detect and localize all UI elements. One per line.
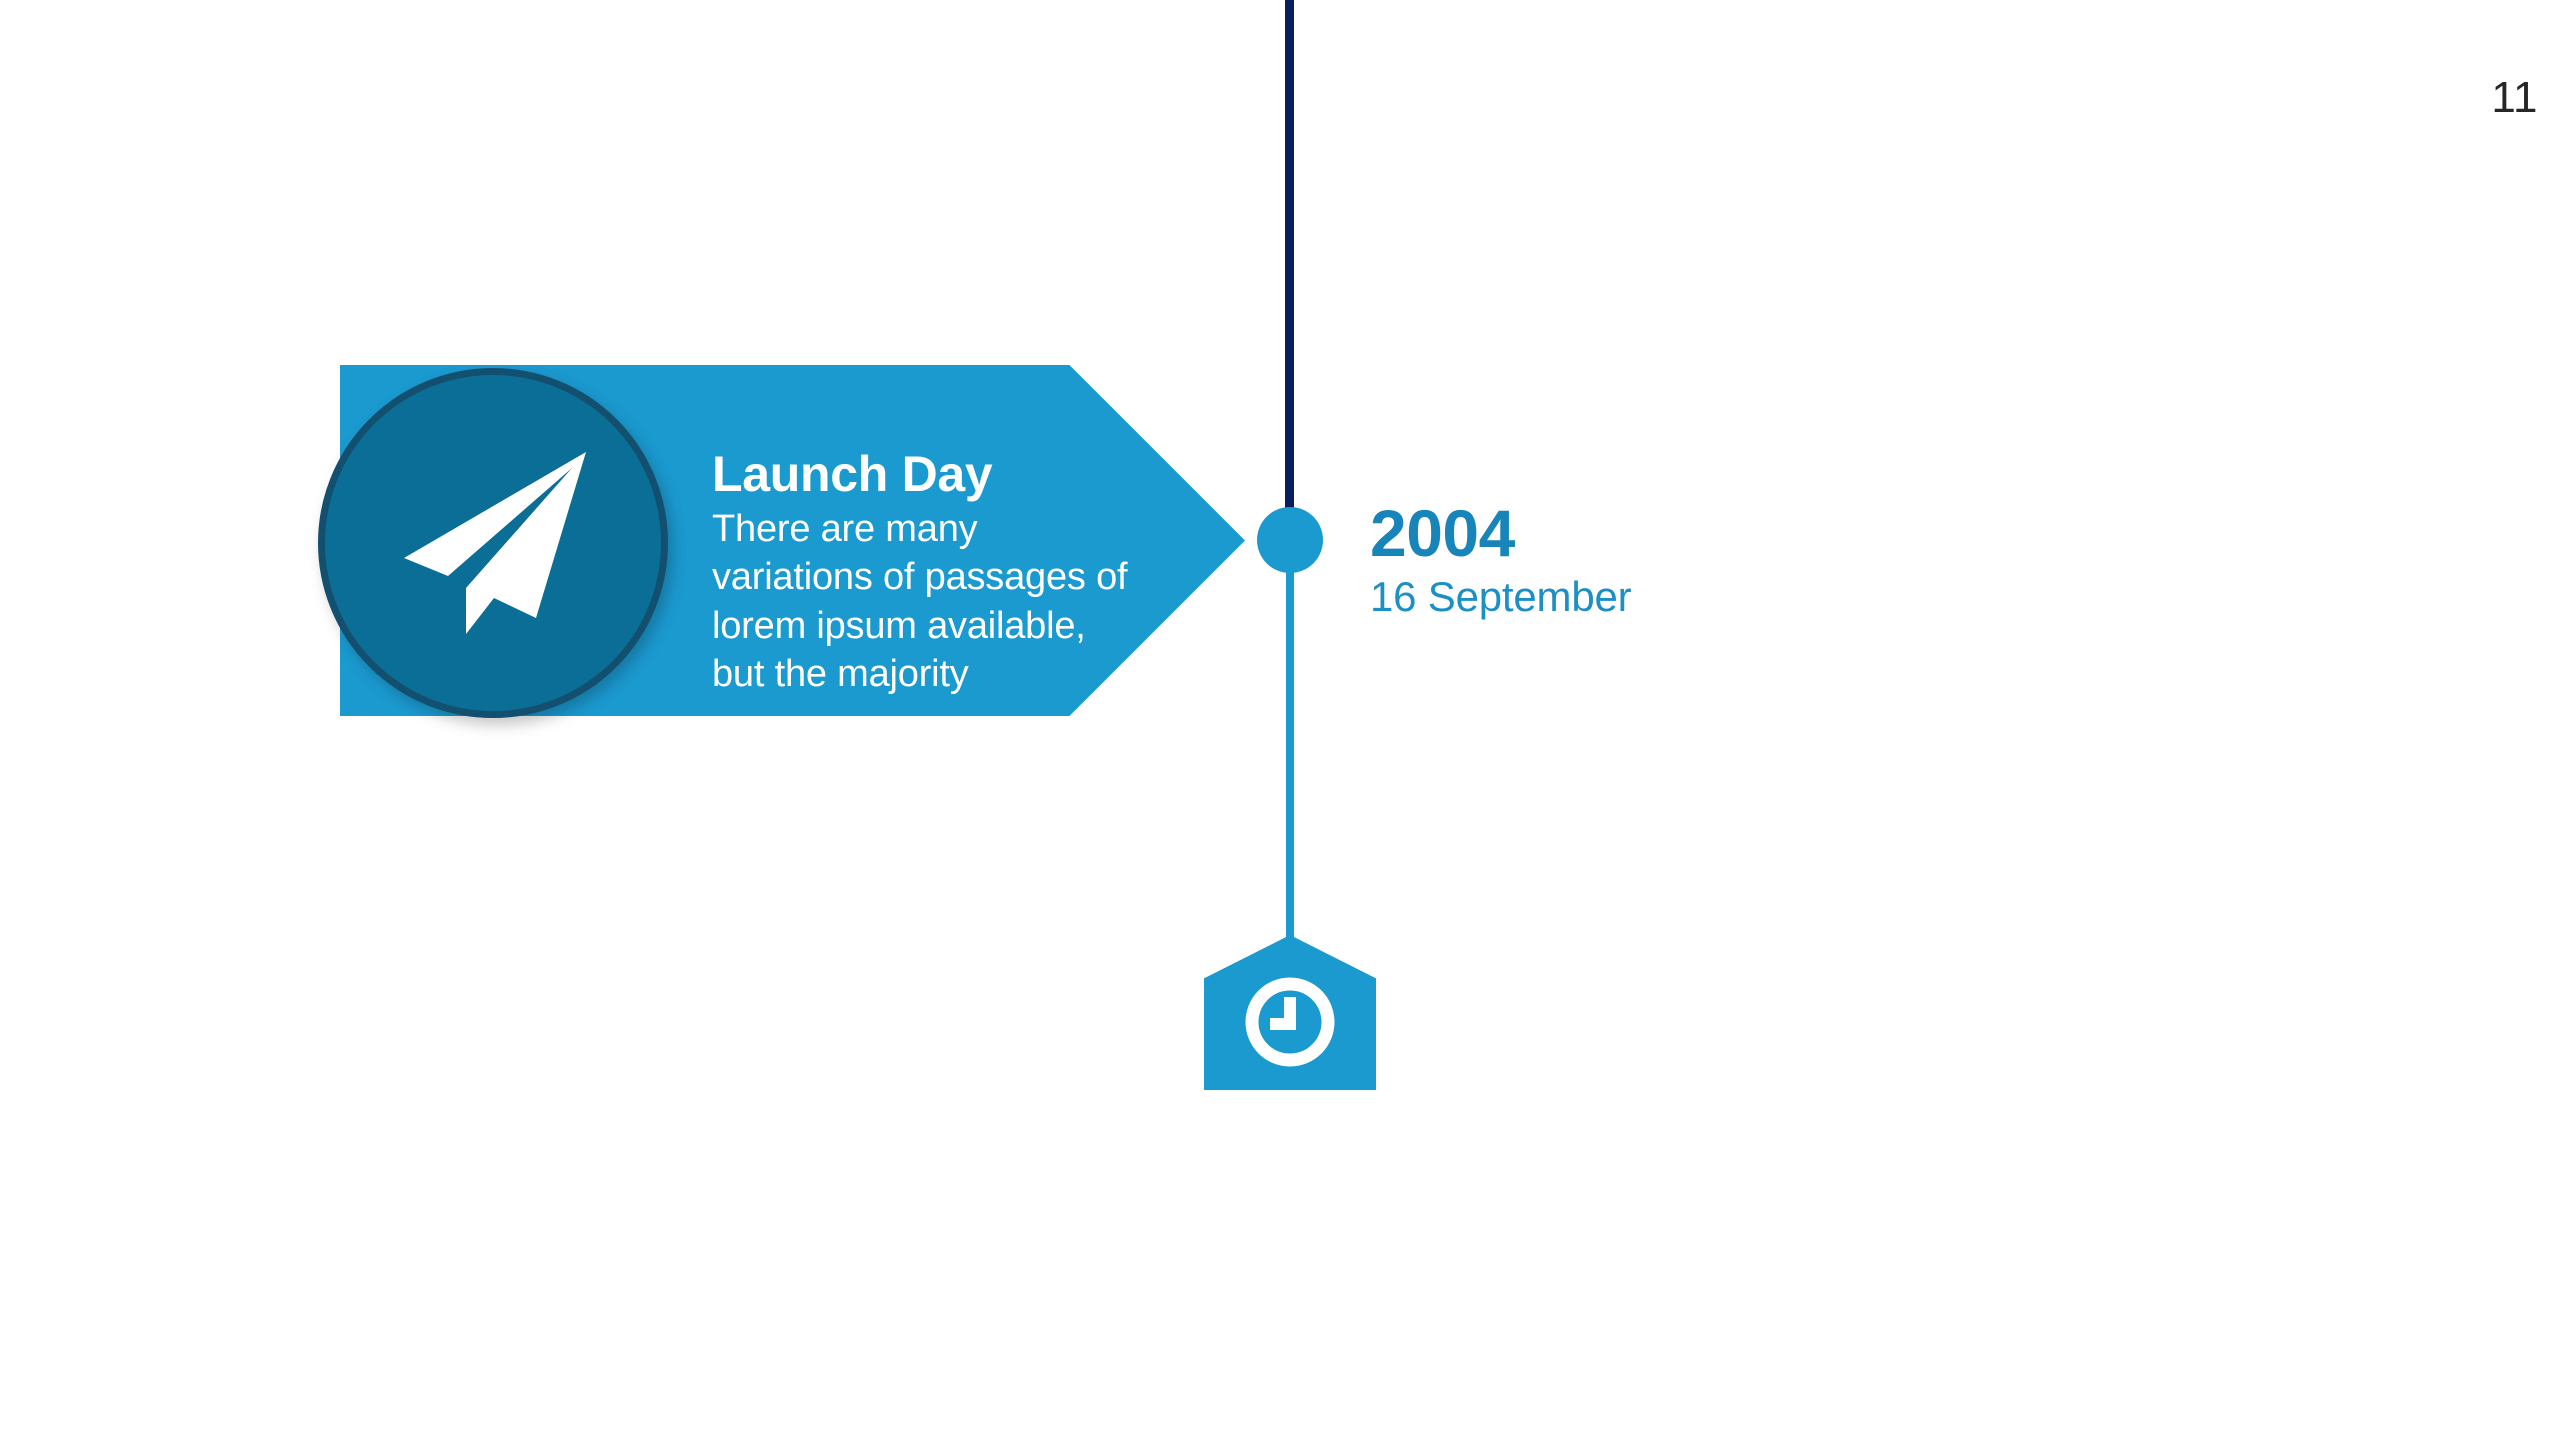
timeline-line-upper xyxy=(1285,0,1294,541)
timeline-node-dot[interactable] xyxy=(1257,507,1323,573)
event-title: Launch Day xyxy=(712,448,1172,501)
event-icon-badge[interactable] xyxy=(318,368,668,718)
page-number: 11 xyxy=(2491,76,2538,120)
timeline-line-lower xyxy=(1286,541,1294,945)
event-date: 16 September xyxy=(1370,574,1790,620)
timeline-end-marker[interactable] xyxy=(1204,935,1376,1090)
paper-plane-icon xyxy=(390,446,595,641)
event-description: There are many variations of passages of… xyxy=(712,505,1172,700)
event-date-block: 2004 16 September xyxy=(1370,500,1790,620)
timeline-axis xyxy=(1285,0,1294,1440)
clock-icon xyxy=(1241,973,1339,1071)
event-year: 2004 xyxy=(1370,500,1790,566)
event-text-block: Launch Day There are many variations of … xyxy=(712,448,1172,699)
